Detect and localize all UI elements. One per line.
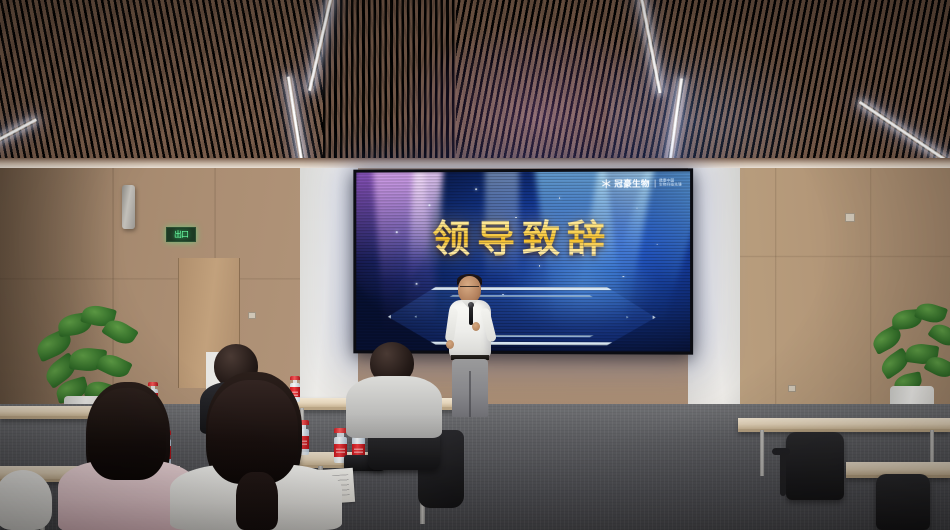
presenter-trousers — [452, 359, 488, 417]
chair-right-1[interactable] — [786, 432, 844, 500]
wall-speaker-icon — [122, 185, 135, 229]
wall-pillar-right — [688, 168, 740, 420]
brand-logo: 冠豪生物 健康中国 生物科技先锋 — [601, 177, 682, 189]
wall-outlet-2 — [845, 213, 855, 222]
brand-tagline-line2: 生物科技先锋 — [659, 183, 682, 187]
ceiling — [0, 0, 950, 172]
wall-outlet-3 — [788, 385, 796, 392]
attendee-gray — [346, 342, 442, 438]
attendee-white-ponytail — [236, 472, 278, 530]
slide-title: 领导致辞 — [356, 208, 690, 263]
microphone-icon — [469, 306, 473, 325]
presenter — [444, 276, 496, 416]
exit-sign-label: 出口 — [174, 229, 188, 240]
table-right-back — [738, 418, 950, 432]
brand-name: 冠豪生物 — [614, 178, 650, 190]
presenter-hand-right — [472, 322, 480, 331]
stage-platform-graphic — [388, 287, 656, 346]
wall-outlet-1 — [248, 312, 256, 319]
snowflake-icon — [601, 179, 611, 189]
conference-room-photo: 出口 — [0, 0, 950, 530]
attendee-white — [170, 372, 342, 530]
presenter-hand-left — [446, 340, 454, 349]
attendee-gray-torso — [346, 376, 442, 438]
exit-sign: 出口 — [166, 227, 196, 242]
brand-tagline: 健康中国 生物科技先锋 — [655, 180, 682, 188]
chair-right-2[interactable] — [876, 474, 930, 530]
led-wall-screen[interactable]: 领导致辞 冠豪生物 健康中国 生物科技先锋 — [353, 168, 693, 354]
eyeglasses-icon — [460, 286, 479, 290]
led-screen-content: 领导致辞 冠豪生物 健康中国 生物科技先锋 — [356, 171, 690, 351]
ceiling-blue-glow — [608, 41, 817, 172]
attendee-foreground-shoulder — [0, 470, 52, 530]
